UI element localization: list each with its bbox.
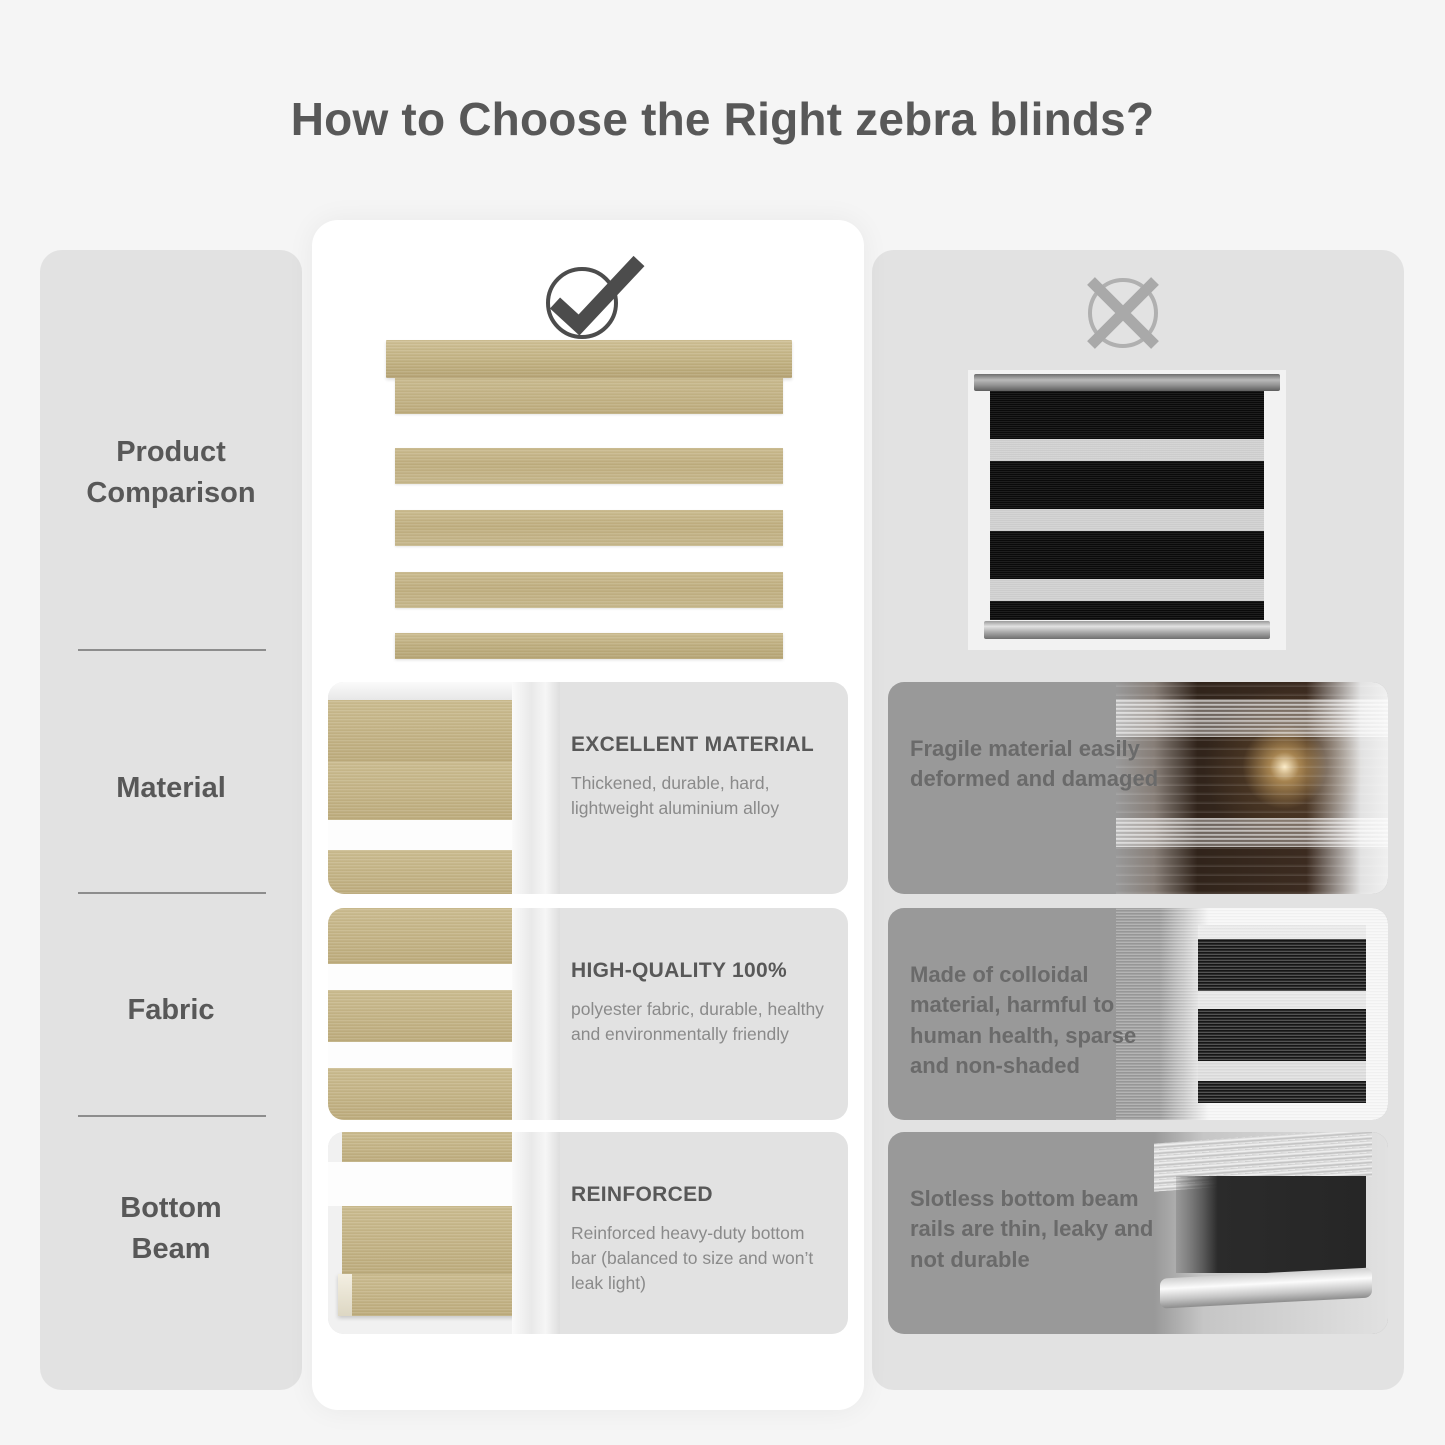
good-feature-card-bottom-beam: REINFORCED Reinforced heavy-duty bottom … — [328, 1132, 848, 1334]
row-label-text-line1: Bottom — [40, 1188, 302, 1229]
thin-bottom-rail — [1160, 1268, 1372, 1309]
zebra-band — [328, 1068, 514, 1120]
card-body: Thickened, durable, hard, lightweight al… — [571, 771, 833, 821]
blind-headrail — [386, 340, 792, 378]
row-label-fabric: Fabric — [40, 990, 302, 1031]
good-feature-card-material: EXCELLENT MATERIAL Thickened, durable, h… — [328, 682, 848, 894]
zebra-band — [328, 908, 514, 964]
zebra-gap — [328, 964, 514, 990]
card-body: polyester fabric, durable, healthy and e… — [571, 997, 833, 1047]
blind-headrail — [974, 374, 1280, 391]
blind-slat — [395, 448, 783, 484]
good-bottom-beam-text: REINFORCED Reinforced heavy-duty bottom … — [571, 1182, 833, 1296]
card-heading: REINFORCED — [571, 1182, 833, 1207]
cross-circle-icon — [1078, 268, 1168, 358]
dark-fabric-panel — [1176, 1176, 1366, 1273]
bad-fabric-text: Made of colloidal material, harmful to h… — [910, 960, 1162, 1081]
blind-bottom-rail — [984, 621, 1270, 639]
zebra-band — [328, 762, 514, 820]
card-heading: HIGH-QUALITY 100% — [571, 958, 833, 983]
card-body: Reinforced heavy-duty bottom bar (balanc… — [571, 1221, 833, 1296]
bad-feature-card-bottom-beam: Slotless bottom beam rails are thin, lea… — [888, 1132, 1388, 1334]
bad-product-image — [968, 370, 1286, 650]
good-bottom-beam-photo — [328, 1132, 560, 1334]
card-heading: EXCELLENT MATERIAL — [571, 732, 833, 757]
good-fabric-text: HIGH-QUALITY 100% polyester fabric, dura… — [571, 958, 833, 1047]
blind-slat — [395, 510, 783, 546]
zebra-band — [342, 1206, 522, 1274]
zebra-band — [328, 700, 514, 762]
reinforced-bottom-bar — [338, 1274, 522, 1316]
blind-bottom-bar — [395, 633, 783, 659]
bad-material-text: Fragile material easily deformed and dam… — [910, 734, 1162, 795]
zebra-gap — [328, 1042, 514, 1068]
row-label-bottom-beam: Bottom Beam — [40, 1188, 302, 1270]
good-material-text: EXCELLENT MATERIAL Thickened, durable, h… — [571, 732, 833, 821]
zebra-gap — [328, 820, 514, 850]
good-product-image — [386, 340, 792, 665]
page-title: How to Choose the Right zebra blinds? — [0, 92, 1445, 146]
good-feature-card-fabric: HIGH-QUALITY 100% polyester fabric, dura… — [328, 908, 848, 1120]
bad-feature-card-material: Fragile material easily deformed and dam… — [888, 682, 1388, 894]
window-frame-right — [512, 908, 560, 1120]
row-divider — [78, 892, 266, 894]
bad-bottom-beam-text: Slotless bottom beam rails are thin, lea… — [910, 1184, 1162, 1275]
row-divider — [78, 1115, 266, 1117]
row-label-material: Material — [40, 768, 302, 809]
zebra-band — [342, 1132, 514, 1162]
blind-fabric-texture — [990, 391, 1264, 620]
row-label-text-line2: Beam — [40, 1229, 302, 1270]
zebra-band — [328, 990, 514, 1042]
good-material-photo — [328, 682, 560, 894]
row-label-text-line2: Comparison — [40, 473, 302, 514]
row-label-product-comparison: Product Comparison Product Comparison — [40, 432, 302, 514]
check-circle-icon — [535, 255, 645, 345]
zebra-gap — [328, 1162, 514, 1206]
blind-slat — [395, 572, 783, 608]
bottom-bar-end-cap — [338, 1274, 352, 1316]
row-label-text-line1: Product — [40, 432, 302, 473]
bad-feature-card-fabric: Made of colloidal material, harmful to h… — [888, 908, 1388, 1120]
good-fabric-photo — [328, 908, 560, 1120]
window-frame-right — [512, 682, 560, 894]
window-frame-right — [512, 1132, 560, 1334]
blind-headrail-lip — [395, 378, 783, 414]
row-divider — [78, 649, 266, 651]
zebra-band — [328, 850, 514, 894]
